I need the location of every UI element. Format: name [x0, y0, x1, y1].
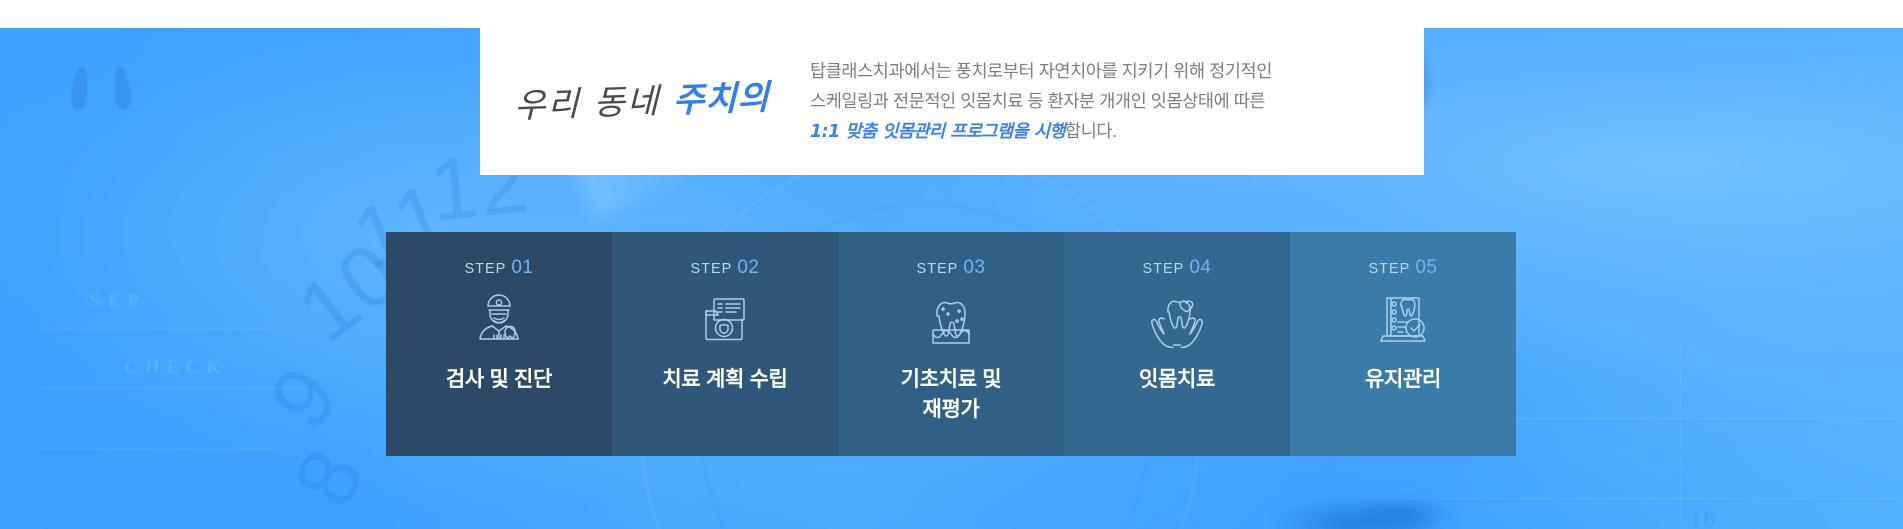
step-card-05[interactable]: STEP05 유지관리 [1290, 232, 1516, 456]
hero-title-plain: 우리 동네 [514, 81, 673, 127]
step-digits: 02 [737, 257, 759, 278]
hero-paragraph-tail: 합니다. [1065, 121, 1117, 141]
step-label-02: 치료 계획 수립 [662, 365, 787, 395]
step-digits: 04 [1189, 257, 1211, 278]
step-word-label: STEP [1142, 261, 1184, 277]
step-label-05: 유지관리 [1365, 365, 1441, 395]
top-white-bar [0, 0, 1903, 28]
dental-record-check-icon [1372, 291, 1434, 351]
step-card-02[interactable]: STEP02 치료 계획 수립 [612, 232, 838, 456]
step-label-line-2: 재평가 [901, 395, 1002, 425]
step-card-03[interactable]: STEP03 기초치료 및 재평가 [838, 232, 1064, 456]
page-root: 12 11 10 9 8 SEP CHECK 16 우리 동네 주치의 탑클래스… [0, 0, 1903, 529]
step-label-line-1: 유지관리 [1365, 365, 1441, 395]
hero-paragraph-line-2: 스케일링과 전문적인 잇몸치료 등 환자분 개개인 잇몸상태에 따른 [810, 86, 1408, 116]
dentist-icon [468, 291, 530, 351]
step-number-02: STEP02 [690, 257, 759, 279]
treatment-steps: STEP01 [386, 232, 1516, 456]
step-label-03: 기초치료 및 재평가 [901, 365, 1002, 425]
step-label-line-1: 치료 계획 수립 [662, 365, 787, 395]
step-digits: 03 [963, 257, 985, 278]
hero-paragraph-line-1: 탑클래스치과에서는 풍치로부터 자연치아를 지키기 위해 정기적인 [810, 56, 1408, 86]
step-word-label: STEP [916, 261, 958, 277]
step-digits: 01 [511, 257, 533, 278]
hero-paragraph-highlight: 1:1 맞춤 잇몸관리 프로그램을 시행 [810, 122, 1065, 142]
hero-card: 우리 동네 주치의 탑클래스치과에서는 풍치로부터 자연치아를 지키기 위해 정… [480, 28, 1424, 175]
treatment-plan-folder-icon [694, 291, 756, 351]
step-card-04[interactable]: STEP04 잇몸치료 [1064, 232, 1290, 456]
step-label-line-1: 잇몸치료 [1139, 365, 1215, 395]
step-word-label: STEP [464, 261, 506, 277]
step-label-01: 검사 및 진단 [446, 365, 552, 395]
step-label-line-1: 기초치료 및 [901, 365, 1002, 395]
hero-paragraph-line-3: 1:1 맞춤 잇몸관리 프로그램을 시행합니다. [810, 116, 1408, 147]
hero-paragraph: 탑클래스치과에서는 풍치로부터 자연치아를 지키기 위해 정기적인 스케일링과 … [810, 56, 1424, 147]
step-number-01: STEP01 [464, 257, 533, 279]
tooth-in-hands-icon [1146, 291, 1208, 351]
step-number-03: STEP03 [916, 257, 985, 279]
step-word-label: STEP [690, 261, 732, 277]
step-number-04: STEP04 [1142, 257, 1211, 279]
step-label-04: 잇몸치료 [1139, 365, 1215, 395]
hero-title-accent: 주치의 [673, 77, 770, 120]
step-number-05: STEP05 [1368, 257, 1437, 279]
step-word-label: STEP [1368, 261, 1410, 277]
step-card-01[interactable]: STEP01 [386, 232, 612, 456]
step-digits: 05 [1415, 257, 1437, 278]
hero-title: 우리 동네 주치의 [480, 79, 810, 125]
tooth-gum-icon [920, 291, 982, 351]
step-label-line-1: 검사 및 진단 [446, 365, 552, 395]
